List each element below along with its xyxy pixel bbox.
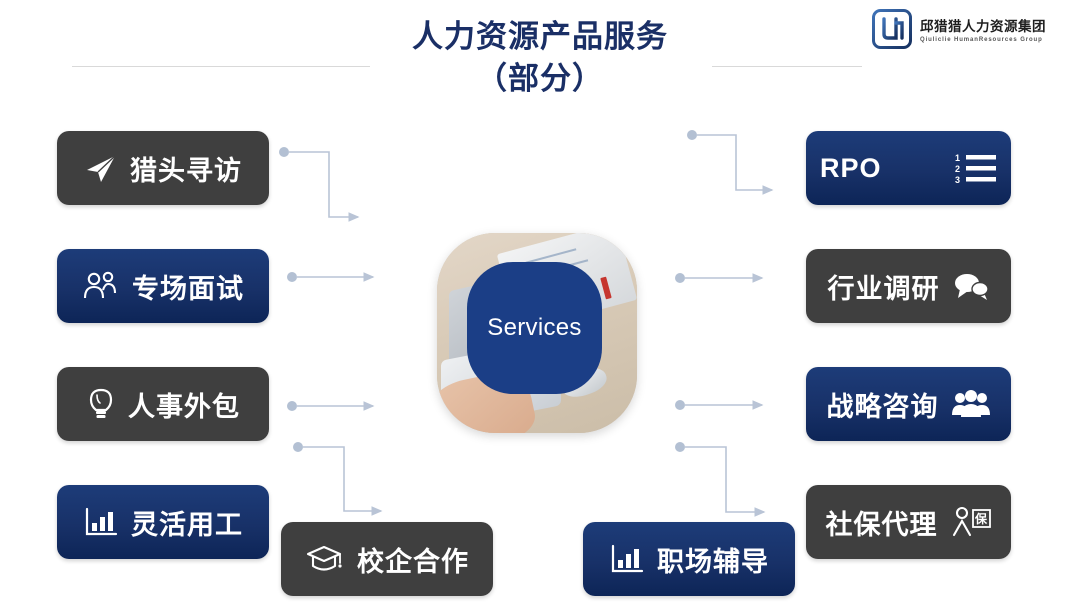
service-box-hangye-diaoyan[interactable]: 行业调研 bbox=[806, 249, 1011, 323]
lightbulb-icon bbox=[86, 387, 116, 421]
service-label: 校企合作 bbox=[357, 540, 469, 579]
connector-dot bbox=[279, 147, 289, 157]
service-box-zhuanchang-mianshi[interactable]: 专场面试 bbox=[57, 249, 269, 323]
connector-right-1 bbox=[697, 135, 772, 190]
svg-text:1: 1 bbox=[955, 153, 961, 163]
service-label: RPO bbox=[820, 153, 882, 184]
graduation-cap-icon bbox=[305, 543, 345, 575]
person-insurance-icon: 保 bbox=[950, 505, 992, 539]
connector-left-1 bbox=[289, 152, 358, 217]
bar-chart-icon bbox=[83, 506, 119, 538]
speech-bubble-icon bbox=[952, 271, 990, 301]
center-services-badge: Services bbox=[467, 262, 602, 394]
connector-dot bbox=[287, 401, 297, 411]
svg-text:3: 3 bbox=[955, 175, 961, 184]
center-services-label: Services bbox=[487, 314, 581, 342]
connector-dot bbox=[675, 273, 685, 283]
service-box-renshi-waibao[interactable]: 人事外包 bbox=[57, 367, 269, 441]
people-group-solid-icon bbox=[951, 389, 991, 419]
slide-canvas: 人力资源产品服务 （部分） 邱猎猎人力资源集团 Qiuliclie HumanR… bbox=[0, 0, 1080, 608]
connector-right-4 bbox=[685, 447, 764, 512]
header-divider-left bbox=[72, 66, 370, 67]
connector-left-4 bbox=[303, 447, 381, 511]
page-title-line1: 人力资源产品服务 bbox=[412, 19, 668, 54]
connector-dot bbox=[293, 442, 303, 452]
service-label: 战略咨询 bbox=[827, 385, 939, 424]
connector-dot bbox=[675, 400, 685, 410]
svg-text:保: 保 bbox=[973, 511, 987, 526]
connector-dot bbox=[675, 442, 685, 452]
company-logo: 邱猎猎人力资源集团 Qiuliclie HumanResources Group bbox=[872, 8, 1070, 50]
service-box-lieto-xunfang[interactable]: 猎头寻访 bbox=[57, 131, 269, 205]
bar-chart-icon bbox=[609, 543, 645, 575]
logo-name-en: Qiuliclie HumanResources Group bbox=[920, 37, 1046, 43]
paper-plane-icon bbox=[84, 151, 118, 185]
header-divider-right bbox=[712, 66, 862, 67]
service-label: 社保代理 bbox=[826, 503, 938, 542]
service-box-zhanlue-zixun[interactable]: 战略咨询 bbox=[806, 367, 1011, 441]
service-label: 专场面试 bbox=[132, 267, 244, 306]
people-group-icon bbox=[82, 270, 120, 302]
service-label: 行业调研 bbox=[828, 267, 940, 306]
numbered-list-icon: 1 2 3 bbox=[955, 152, 997, 184]
service-box-shebao-daili[interactable]: 社保代理 保 bbox=[806, 485, 1011, 559]
connector-dot bbox=[687, 130, 697, 140]
logo-text-block: 邱猎猎人力资源集团 Qiuliclie HumanResources Group bbox=[920, 15, 1046, 43]
page-title-line2: （部分） bbox=[270, 58, 810, 100]
page-title: 人力资源产品服务 （部分） bbox=[270, 16, 810, 100]
svg-text:2: 2 bbox=[955, 164, 961, 174]
service-label: 猎头寻访 bbox=[130, 149, 242, 188]
service-label: 职场辅导 bbox=[657, 540, 769, 579]
service-box-rpo[interactable]: RPO 1 2 3 bbox=[806, 131, 1011, 205]
connector-dot bbox=[287, 272, 297, 282]
service-label: 灵活用工 bbox=[131, 503, 243, 542]
logo-name-cn: 邱猎猎人力资源集团 bbox=[920, 15, 1046, 35]
service-box-zhichang-fudao[interactable]: 职场辅导 bbox=[583, 522, 795, 596]
service-box-linghuo-yonggong[interactable]: 灵活用工 bbox=[57, 485, 269, 559]
service-label: 人事外包 bbox=[128, 385, 240, 424]
logo-mark-icon bbox=[872, 9, 912, 49]
service-box-xiaoqi-hezuo[interactable]: 校企合作 bbox=[281, 522, 493, 596]
